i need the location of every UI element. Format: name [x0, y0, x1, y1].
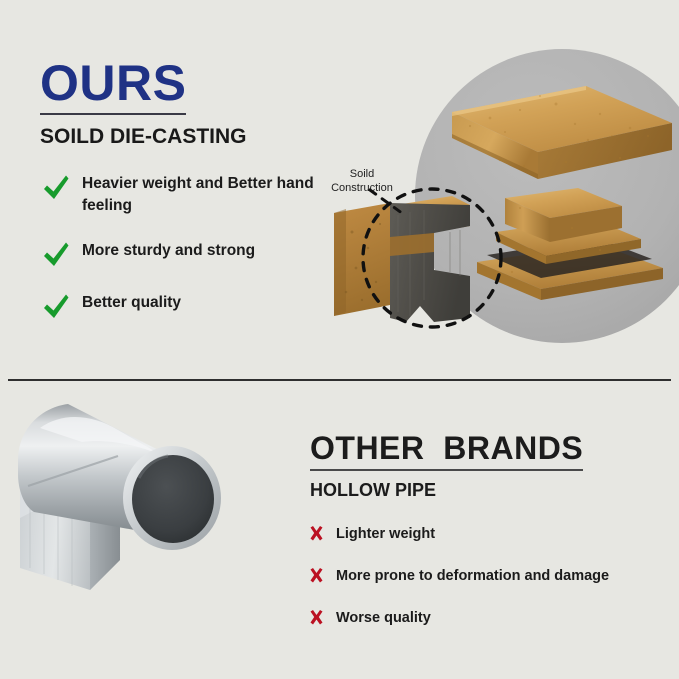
list-item-label: Worse quality — [336, 609, 431, 628]
cutaway-cross-section — [334, 196, 470, 322]
cross-icon — [308, 567, 325, 586]
list-item-label: More prone to deformation and damage — [336, 567, 609, 586]
other-brands-product-artwork — [0, 390, 300, 679]
other-brands-drawback-list: Lighter weight More prone to deformation… — [308, 525, 658, 651]
cross-icon — [308, 609, 325, 628]
list-item-label: Lighter weight — [336, 525, 435, 544]
other-brands-title: OTHER BRANDS — [310, 432, 583, 464]
other-brands-title-underline — [310, 469, 583, 471]
list-item: Worse quality — [308, 609, 658, 628]
other-brands-heading-block: OTHER BRANDS — [310, 432, 583, 471]
list-item: Lighter weight — [308, 525, 658, 544]
other-brands-subtitle: HOLLOW PIPE — [310, 481, 436, 499]
list-item: More prone to deformation and damage — [308, 567, 658, 586]
product-comparison-infographic: OURS SOILD DIE-CASTING Heavier weight an… — [0, 0, 679, 679]
section-divider — [8, 379, 671, 381]
cross-icon — [308, 525, 325, 544]
ours-product-artwork — [0, 0, 679, 378]
